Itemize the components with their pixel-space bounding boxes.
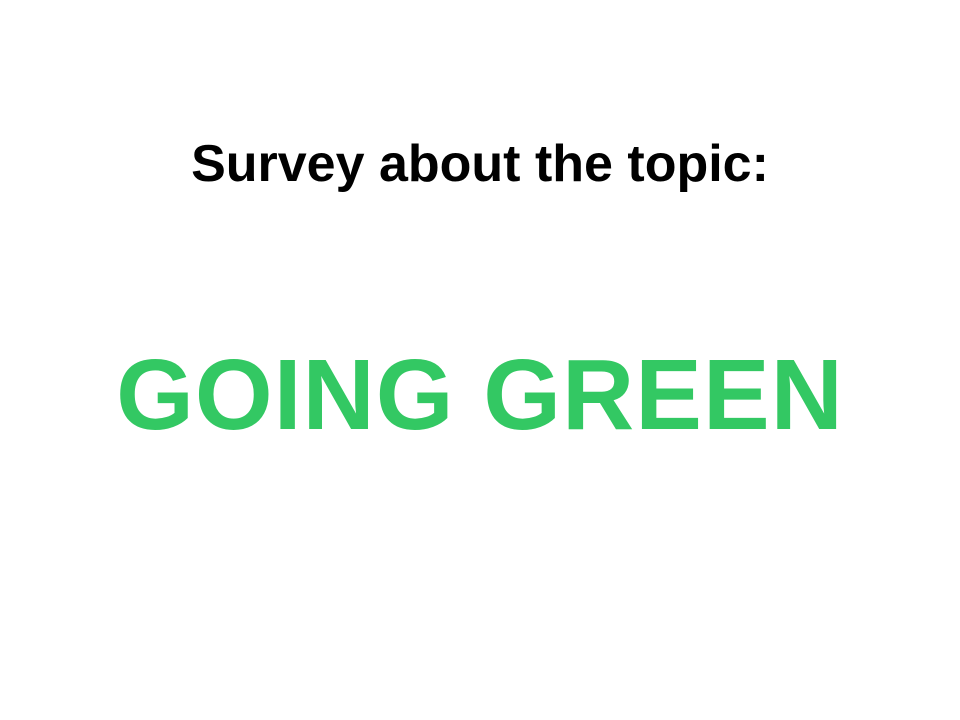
slide-headline-topic: GOING GREEN <box>0 337 960 453</box>
slide-canvas: Survey about the topic: GOING GREEN <box>0 0 960 720</box>
slide-title: Survey about the topic: <box>0 133 960 195</box>
